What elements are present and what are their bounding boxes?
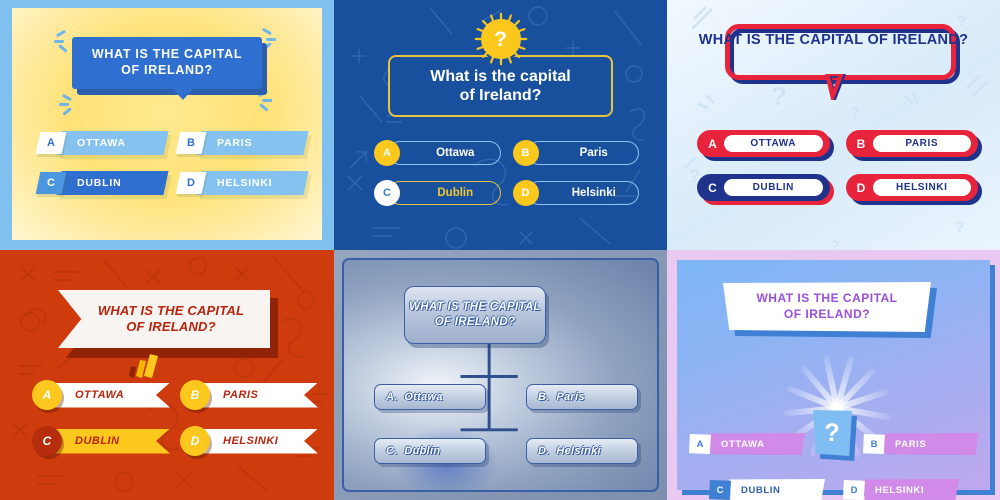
answer-option-c[interactable]: C DUBLIN bbox=[32, 426, 170, 456]
option-label-bar: HELSINKI bbox=[863, 479, 959, 500]
answer-option-a[interactable]: A. Ottawa bbox=[374, 384, 486, 410]
question-bubble: WHAT IS THE CAPITALOF IRELAND? bbox=[72, 37, 262, 89]
option-label: C. Dublin bbox=[386, 445, 440, 457]
option-letter-badge: B bbox=[180, 380, 210, 410]
option-letter-badge: A bbox=[374, 140, 400, 166]
bubble-tail-icon bbox=[172, 88, 194, 100]
option-label: A. Ottawa bbox=[386, 391, 443, 403]
answer-option-b[interactable]: B PARIS bbox=[846, 130, 981, 160]
option-letter-badge: A bbox=[36, 132, 67, 154]
question-text: What is the capitalof Ireland? bbox=[430, 67, 570, 105]
option-label-bar: HELSINKI bbox=[196, 171, 308, 195]
question-mark-badge: ? bbox=[479, 17, 523, 61]
option-pill: Ottawa bbox=[388, 141, 501, 165]
option-label-field: OTTAWA bbox=[724, 135, 823, 152]
option-letter-badge: B bbox=[513, 140, 539, 166]
sunburst-rays-icon bbox=[474, 12, 528, 66]
option-label-field: PARIS bbox=[873, 135, 972, 152]
option-body: A OTTAWA bbox=[697, 130, 830, 157]
bubble-tail-icon bbox=[825, 74, 847, 100]
answer-option-a[interactable]: A OTTAWA bbox=[38, 130, 166, 156]
option-label: B. Paris bbox=[538, 391, 585, 403]
option-letter-badge: A bbox=[32, 380, 62, 410]
svg-text:?: ? bbox=[850, 105, 860, 122]
quiz-card-purple-blue: WHAT IS THE CAPITALOF IRELAND? ? A OTTAW… bbox=[667, 250, 1000, 500]
question-text: WHAT IS THE CAPITALOF IRELAND? bbox=[92, 47, 242, 78]
option-label-bar: PARIS bbox=[196, 131, 308, 155]
answer-option-d[interactable]: D HELSINKI bbox=[178, 170, 306, 196]
answer-option-b[interactable]: B PARIS bbox=[180, 380, 318, 410]
svg-text:?: ? bbox=[831, 237, 840, 250]
option-letter-badge: C bbox=[32, 426, 62, 456]
answer-option-c[interactable]: Dublin C bbox=[374, 180, 501, 206]
svg-text:?: ? bbox=[955, 219, 965, 236]
background-doodle-pattern bbox=[0, 250, 334, 500]
quiz-card-metallic: WHAT IS THE CAPITALOF IRELAND? A. Ottawa… bbox=[334, 250, 667, 500]
option-body: B PARIS bbox=[846, 130, 979, 157]
answer-options: A OTTAWA B PARIS C DUBLIN D HELSINKI bbox=[38, 130, 306, 196]
question-text: WHAT IS THE CAPITAL OF IRELAND? bbox=[667, 32, 1000, 48]
option-label-bar: DUBLIN bbox=[729, 479, 825, 500]
option-ribbon: HELSINKI bbox=[201, 429, 318, 454]
option-letter-badge: B bbox=[863, 434, 885, 454]
quiz-template-gallery: WHAT IS THE CAPITALOF IRELAND? A OTTAWA … bbox=[0, 0, 1000, 500]
option-letter-badge: D bbox=[853, 181, 870, 195]
answer-options: Ottawa A Paris B Dublin C Helsinki D bbox=[374, 140, 639, 206]
option-letter-badge: D bbox=[843, 480, 865, 500]
question-banner: WHAT IS THE CAPITALOF IRELAND? bbox=[58, 290, 270, 350]
question-header: WHAT IS THE CAPITALOF IRELAND? bbox=[723, 282, 931, 334]
option-body: C DUBLIN bbox=[697, 174, 830, 201]
quiz-card-orange-ribbon: WHAT IS THE CAPITALOF IRELAND? A OTTAWA … bbox=[0, 250, 334, 500]
answer-option-a[interactable]: Ottawa A bbox=[374, 140, 501, 166]
quiz-card-red-navy: ? ? ? ? ? ? WHAT IS bbox=[667, 0, 1000, 250]
option-ribbon: OTTAWA bbox=[53, 383, 170, 408]
answer-option-d[interactable]: D HELSINKI bbox=[843, 478, 959, 500]
option-pill: Dublin bbox=[388, 181, 501, 205]
option-letter-badge: B bbox=[176, 132, 207, 154]
option-letter-badge: B bbox=[853, 137, 870, 151]
option-label-field: HELSINKI bbox=[873, 179, 972, 196]
answer-option-a[interactable]: A OTTAWA bbox=[697, 130, 832, 160]
answer-option-c[interactable]: C DUBLIN bbox=[709, 478, 825, 500]
option-letter-badge: D bbox=[176, 172, 207, 194]
flag-accent-icon bbox=[128, 354, 162, 380]
answer-option-b[interactable]: B. Paris bbox=[526, 384, 638, 410]
badge-front: ? bbox=[812, 410, 852, 456]
quiz-card-yellow-flat: WHAT IS THE CAPITALOF IRELAND? A OTTAWA … bbox=[0, 0, 334, 250]
answer-options: A OTTAWA B PARIS C DUBLIN D HELSINKI bbox=[32, 380, 318, 456]
banner-front: WHAT IS THE CAPITALOF IRELAND? bbox=[58, 290, 270, 348]
option-label: D. Helsinki bbox=[538, 445, 601, 457]
answer-option-b[interactable]: B PARIS bbox=[863, 432, 979, 456]
option-letter-badge: C bbox=[374, 180, 400, 206]
option-label-field: DUBLIN bbox=[724, 179, 823, 196]
answer-option-d[interactable]: D HELSINKI bbox=[846, 174, 981, 204]
option-pill: Paris bbox=[527, 141, 640, 165]
answer-option-a[interactable]: A OTTAWA bbox=[689, 432, 805, 456]
answer-option-d[interactable]: D. Helsinki bbox=[526, 438, 638, 464]
quiz-card-blue-outline: ? What is the capitalof Ireland? Ottawa … bbox=[334, 0, 667, 250]
option-label-bar: OTTAWA bbox=[56, 131, 168, 155]
option-body: D HELSINKI bbox=[846, 174, 979, 201]
option-ribbon: PARIS bbox=[201, 383, 318, 408]
option-label-bar: PARIS bbox=[883, 433, 979, 455]
option-letter-badge: A bbox=[704, 137, 721, 151]
answer-option-d[interactable]: D HELSINKI bbox=[180, 426, 318, 456]
answer-option-b[interactable]: B PARIS bbox=[178, 130, 306, 156]
answer-option-c[interactable]: C. Dublin bbox=[374, 438, 486, 464]
question-text: WHAT IS THE CAPITALOF IRELAND? bbox=[409, 300, 541, 329]
answer-option-c[interactable]: C DUBLIN bbox=[697, 174, 832, 204]
question-mark-icon: ? bbox=[824, 419, 839, 448]
answer-option-b[interactable]: Paris B bbox=[513, 140, 640, 166]
question-mark-badge: ? bbox=[812, 410, 854, 458]
card-frame: WHAT IS THE CAPITALOF IRELAND? A. Ottawa… bbox=[342, 258, 659, 492]
answer-options: A OTTAWA B PARIS C DUBLIN bbox=[697, 130, 980, 204]
option-letter-badge: C bbox=[36, 172, 67, 194]
option-letter-badge: A bbox=[689, 434, 711, 454]
option-letter-badge: D bbox=[513, 180, 539, 206]
option-letter-badge: D bbox=[180, 426, 210, 456]
question-text: WHAT IS THE CAPITALOF IRELAND? bbox=[84, 303, 244, 336]
option-letter-badge: C bbox=[704, 181, 721, 195]
option-label-bar: OTTAWA bbox=[709, 433, 805, 455]
answer-option-d[interactable]: Helsinki D bbox=[513, 180, 640, 206]
answer-option-c[interactable]: C DUBLIN bbox=[38, 170, 166, 196]
answer-option-a[interactable]: A OTTAWA bbox=[32, 380, 170, 410]
question-card: WHAT IS THE CAPITALOF IRELAND? bbox=[404, 286, 546, 344]
option-pill: Helsinki bbox=[527, 181, 640, 205]
option-letter-badge: C bbox=[709, 480, 731, 500]
header-front: WHAT IS THE CAPITALOF IRELAND? bbox=[723, 282, 931, 332]
question-text: WHAT IS THE CAPITALOF IRELAND? bbox=[756, 291, 897, 322]
option-label-bar: DUBLIN bbox=[56, 171, 168, 195]
option-ribbon: DUBLIN bbox=[53, 429, 170, 454]
